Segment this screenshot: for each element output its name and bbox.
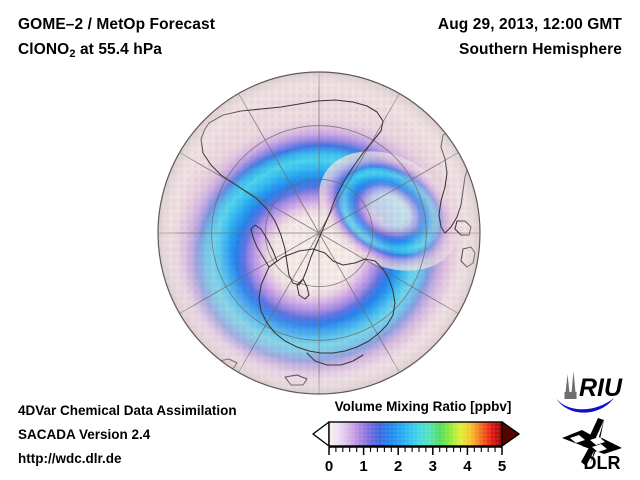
colorbar-tick-label: 3 bbox=[429, 458, 437, 475]
date-label: Aug 29, 2013, 12:00 GMT bbox=[438, 16, 622, 34]
logos-svg: RIU DLR bbox=[552, 368, 638, 472]
riu-wordmark: RIU bbox=[579, 374, 623, 402]
version-label: SACADA Version 2.4 bbox=[18, 427, 150, 442]
species-title: ClONO2 at 55.4 hPa bbox=[18, 41, 162, 60]
species-level: at 55.4 hPa bbox=[76, 41, 163, 58]
dlr-wordmark: DLR bbox=[584, 453, 621, 472]
logo-group: RIU DLR bbox=[552, 368, 638, 472]
cathedral-icon bbox=[565, 371, 577, 399]
colorbar-tick-label: 2 bbox=[394, 458, 402, 475]
globe-svg bbox=[157, 71, 481, 395]
colorbar-tick-label: 5 bbox=[498, 458, 506, 475]
globe-map bbox=[157, 71, 481, 395]
figure-canvas: GOME–2 / MetOp Forecast ClONO2 at 55.4 h… bbox=[0, 0, 640, 480]
colorbar-title: Volume Mixing Ratio [ppbv] bbox=[316, 399, 530, 414]
dlr-logo: DLR bbox=[562, 418, 622, 472]
colorbar-texture bbox=[329, 422, 502, 446]
limb-shading bbox=[158, 72, 480, 394]
colorbar-major-ticks bbox=[329, 447, 502, 455]
colorbar: 0 1 2 3 4 5 bbox=[312, 421, 534, 475]
riu-logo: RIU bbox=[556, 371, 623, 413]
species-name: ClONO bbox=[18, 41, 69, 58]
colorbar-svg: 0 1 2 3 4 5 bbox=[312, 421, 534, 475]
colorbar-right-cap bbox=[502, 422, 519, 446]
colorbar-tick-label: 4 bbox=[463, 458, 472, 475]
colorbar-left-cap bbox=[313, 422, 329, 446]
instrument-title: GOME–2 / MetOp Forecast bbox=[18, 16, 215, 34]
hemisphere-label: Southern Hemisphere bbox=[459, 41, 622, 59]
colorbar-axis bbox=[329, 447, 502, 455]
assimilation-label: 4DVar Chemical Data Assimilation bbox=[18, 403, 237, 418]
colorbar-tick-label: 0 bbox=[325, 458, 333, 475]
colorbar-tick-labels: 0 1 2 3 4 5 bbox=[325, 458, 506, 475]
website-link[interactable]: http://wdc.dlr.de bbox=[18, 451, 122, 466]
colorbar-tick-label: 1 bbox=[359, 458, 367, 475]
